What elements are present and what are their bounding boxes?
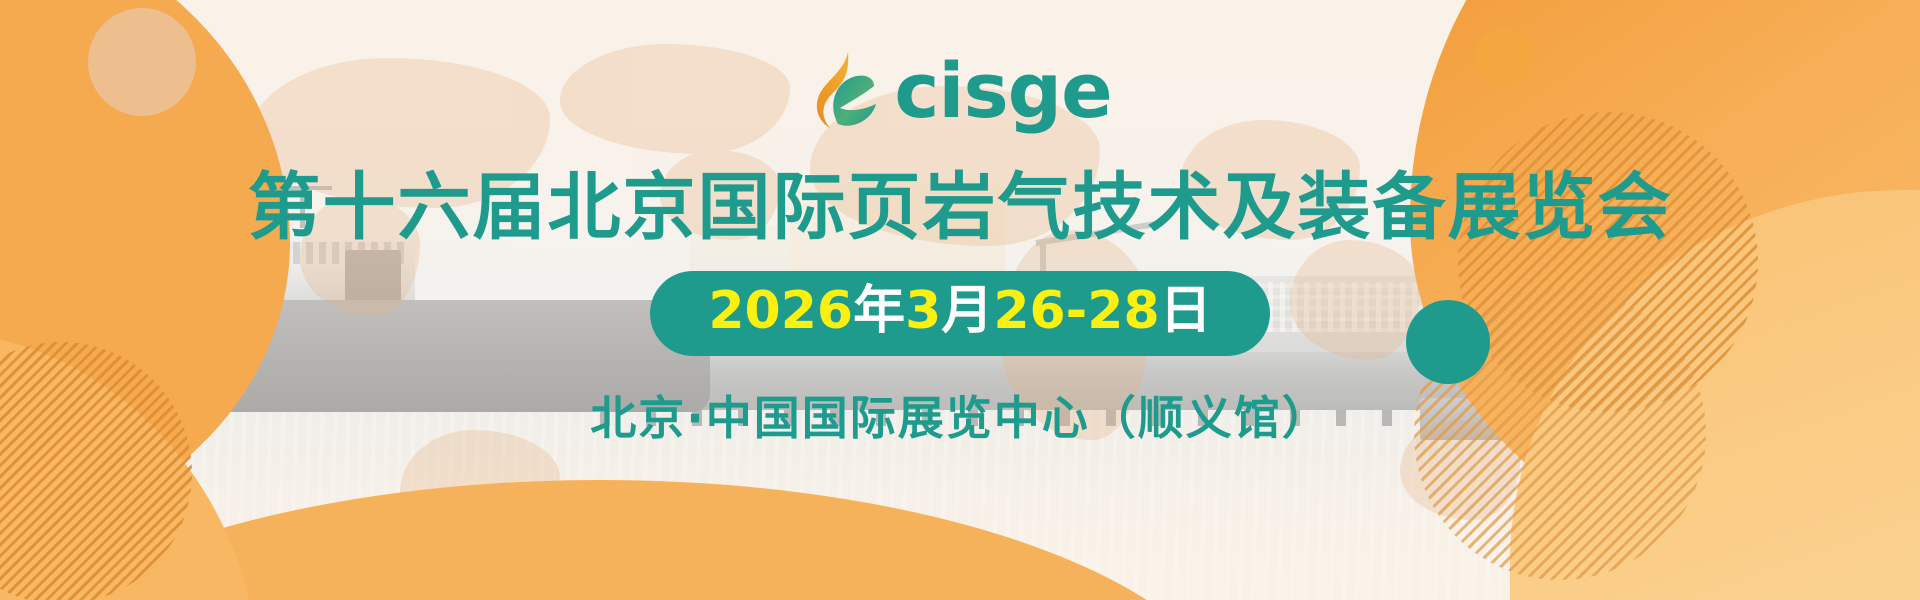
date-month-unit: 月 xyxy=(941,279,993,344)
exhibition-banner: cisge 第十六届北京国际页岩气技术及装备展览会 2026年3月26-28日 … xyxy=(0,0,1920,600)
date-days: 26-28 xyxy=(993,279,1159,344)
page-title: 第十六届北京国际页岩气技术及装备展览会 xyxy=(248,170,1673,247)
date-year: 2026 xyxy=(708,279,853,344)
date-month: 3 xyxy=(905,279,941,344)
venue-text: 北京·中国国际展览中心（顺义馆） xyxy=(590,382,1329,448)
date-day-unit: 日 xyxy=(1160,279,1212,344)
logo-wordmark: cisge xyxy=(894,53,1111,129)
cisge-flame-leaf-logo-icon xyxy=(808,50,880,132)
logo: cisge xyxy=(808,48,1111,134)
date-badge: 2026年3月26-28日 xyxy=(650,271,1269,356)
banner-content: cisge 第十六届北京国际页岩气技术及装备展览会 2026年3月26-28日 … xyxy=(0,0,1920,600)
date-year-unit: 年 xyxy=(853,279,905,344)
